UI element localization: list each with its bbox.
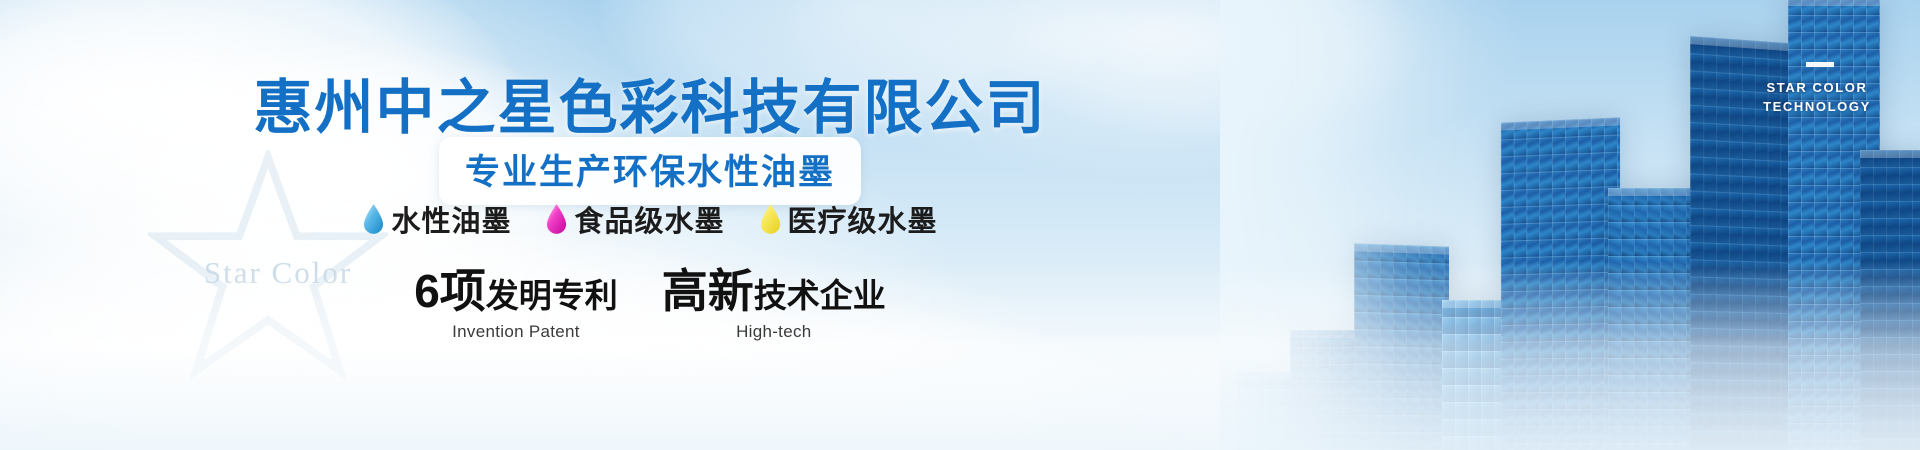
feature-label: 食品级水墨 xyxy=(574,198,724,240)
badge-high-tech: 高新技术企业 High-tech xyxy=(662,268,886,342)
page-title: 惠州中之星色彩科技有限公司 xyxy=(0,60,1300,145)
tower-brand-label: STAR COLOR TECHNOLOGY xyxy=(1742,78,1892,116)
droplet-icon xyxy=(362,203,385,235)
feature-label: 医疗级水墨 xyxy=(788,198,938,240)
feature-item: 医疗级水墨 xyxy=(759,198,938,240)
hero-banner: Star Color STAR COLOR TECHNOLOGY 惠州中之星色彩… xyxy=(0,0,1920,450)
subtitle-pill: 专业生产环保水性油墨 xyxy=(439,137,861,205)
feature-list: 水性油墨 食品级水墨 xyxy=(0,198,1300,240)
feature-item: 食品级水墨 xyxy=(545,198,724,240)
badge-highlight: 高新 xyxy=(662,265,754,317)
tower-brand-line-2: TECHNOLOGY xyxy=(1742,97,1892,116)
badge-highlight: 6项 xyxy=(414,265,486,317)
subtitle-text: 专业生产环保水性油墨 xyxy=(465,153,835,192)
badge-list: 6项发明专利 Invention Patent 高新技术企业 High-tech xyxy=(0,268,1300,342)
droplet-icon xyxy=(545,203,568,235)
feature-item: 水性油墨 xyxy=(362,198,511,240)
badge-rest: 发明专利 xyxy=(486,277,618,314)
badge-main-line: 6项发明专利 xyxy=(414,268,618,315)
droplet-icon xyxy=(759,203,782,235)
badge-invention-patent: 6项发明专利 Invention Patent xyxy=(414,268,618,342)
feature-label: 水性油墨 xyxy=(391,198,511,240)
badge-subtitle: High-tech xyxy=(662,322,886,342)
tower-dash-mark xyxy=(1806,62,1834,67)
badge-rest: 技术企业 xyxy=(754,277,886,314)
badge-subtitle: Invention Patent xyxy=(414,322,618,342)
badge-main-line: 高新技术企业 xyxy=(662,268,886,315)
banner-content: 惠州中之星色彩科技有限公司 专业生产环保水性油墨 水性油墨 xyxy=(0,0,1300,450)
tower-brand-line-1: STAR COLOR xyxy=(1742,78,1892,97)
